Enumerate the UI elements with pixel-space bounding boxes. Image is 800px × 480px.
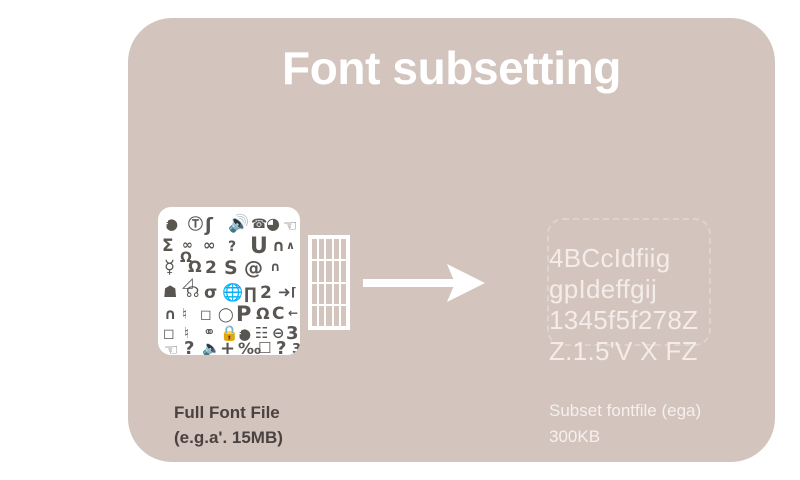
- svg-text:Ω: Ω: [180, 250, 192, 266]
- grid-cell: [312, 261, 317, 281]
- svg-text:3: 3: [292, 342, 300, 355]
- full-font-file-caption-line2: (e.g.a'. 15MB): [174, 425, 283, 450]
- grid-cell: [341, 261, 346, 281]
- subset-sample-line: 4BCcIdfiig: [549, 243, 734, 274]
- svg-text:@: @: [244, 257, 263, 279]
- svg-text:☐: ☐: [258, 339, 271, 355]
- grid-cell: [334, 306, 339, 326]
- svg-text:☗: ☗: [163, 282, 177, 301]
- grid-cell: [341, 306, 346, 326]
- svg-text:∞: ∞: [203, 236, 216, 254]
- svg-text:3: 3: [286, 323, 299, 344]
- svg-text:♮: ♮: [182, 305, 187, 323]
- svg-text:∧: ∧: [286, 239, 295, 252]
- full-font-file-caption: Full Font File (e.g.a'. 15MB): [174, 400, 283, 450]
- grid-cell: [319, 284, 324, 304]
- grid-cell: [326, 306, 331, 326]
- grid-cell: [312, 306, 317, 326]
- svg-text:Ω: Ω: [256, 304, 270, 323]
- svg-text:C: C: [272, 304, 284, 324]
- full-font-file-caption-line1: Full Font File: [174, 400, 283, 425]
- grid-cell: [312, 284, 317, 304]
- svg-text:🔈: 🔈: [202, 339, 221, 355]
- svg-text:∩: ∩: [270, 260, 281, 275]
- svg-text:?: ?: [228, 239, 236, 255]
- svg-text:⌈: ⌈: [291, 285, 296, 299]
- svg-text:🔊: 🔊: [228, 213, 249, 234]
- svg-text:◯: ◯: [218, 307, 234, 323]
- subset-sample-line: gpIdeffgij: [549, 274, 734, 305]
- grid-cell: [319, 261, 324, 281]
- svg-text:+: +: [220, 338, 235, 355]
- svg-text:←: ←: [288, 306, 298, 320]
- svg-text:ʃ: ʃ: [204, 214, 214, 236]
- subset-sample-text: 4BCcIdfiig gpIdeffgij 1345f5f278Z Z.1.5'…: [549, 243, 734, 367]
- grid-cell: [326, 261, 331, 281]
- subset-sample-line: 1345f5f278Z: [549, 305, 734, 336]
- grid-cell: [319, 306, 324, 326]
- glyph-cloud-icon: ● f Ⓣ ʃ 🔊 ☎ ◕ ☜ Σ ∞ ∞ ? U ∩ ∧ ☿ Ω: [158, 207, 300, 355]
- subset-fontfile-caption-line1: Subset fontfile (ega): [549, 398, 701, 424]
- grid-cell: [341, 239, 346, 259]
- svg-text:➜: ➜: [278, 283, 291, 301]
- grid-cell: [334, 239, 339, 259]
- svg-text:☎: ☎: [251, 217, 267, 232]
- grid-cell: [341, 284, 346, 304]
- svg-text:σ: σ: [204, 283, 217, 303]
- grid-cell: [326, 239, 331, 259]
- grid-cell: [334, 284, 339, 304]
- page-title: Font subsetting: [128, 40, 775, 96]
- grid-cell: [326, 284, 331, 304]
- svg-text:∩: ∩: [272, 236, 285, 255]
- svg-text:◕: ◕: [266, 214, 280, 233]
- svg-text:Σ: Σ: [162, 236, 174, 256]
- glyph-table-icon: [308, 235, 350, 330]
- svg-text:2: 2: [205, 258, 217, 278]
- svg-text:U: U: [250, 234, 268, 259]
- svg-text:◿: ◿: [182, 275, 193, 291]
- svg-text:?: ?: [276, 338, 286, 355]
- svg-text:☜: ☜: [164, 340, 178, 355]
- diagram-canvas: Font subsetting ● f Ⓣ ʃ 🔊 ☎ ◕ ☜ Σ ∞ ∞ ? …: [0, 0, 800, 480]
- svg-text:f: f: [164, 221, 168, 231]
- svg-text:∩: ∩: [164, 305, 176, 323]
- svg-text:🌐: 🌐: [222, 282, 243, 303]
- arrow-right-icon: [363, 262, 488, 304]
- svg-text:?: ?: [184, 338, 194, 355]
- grid-cell: [312, 239, 317, 259]
- svg-text:2: 2: [260, 283, 272, 303]
- svg-text:S: S: [224, 257, 238, 279]
- svg-text:P: P: [236, 302, 251, 326]
- subset-sample-line: Z.1.5'V X FZ: [549, 336, 734, 367]
- svg-text:☿: ☿: [164, 257, 175, 278]
- svg-text:Ⓣ: Ⓣ: [188, 215, 203, 233]
- subset-fontfile-caption: Subset fontfile (ega) 300KB: [549, 398, 701, 450]
- font-subsetting-card: Font subsetting ● f Ⓣ ʃ 🔊 ☎ ◕ ☜ Σ ∞ ∞ ? …: [128, 18, 775, 462]
- svg-text:☜: ☜: [283, 216, 297, 235]
- full-font-file-glyph-cloud: ● f Ⓣ ʃ 🔊 ☎ ◕ ☜ Σ ∞ ∞ ? U ∩ ∧ ☿ Ω: [158, 207, 300, 355]
- svg-text:◻: ◻: [200, 307, 212, 323]
- grid-cell: [319, 239, 324, 259]
- svg-text:∏: ∏: [244, 284, 257, 303]
- subset-fontfile-caption-line2: 300KB: [549, 424, 701, 450]
- grid-cell: [334, 261, 339, 281]
